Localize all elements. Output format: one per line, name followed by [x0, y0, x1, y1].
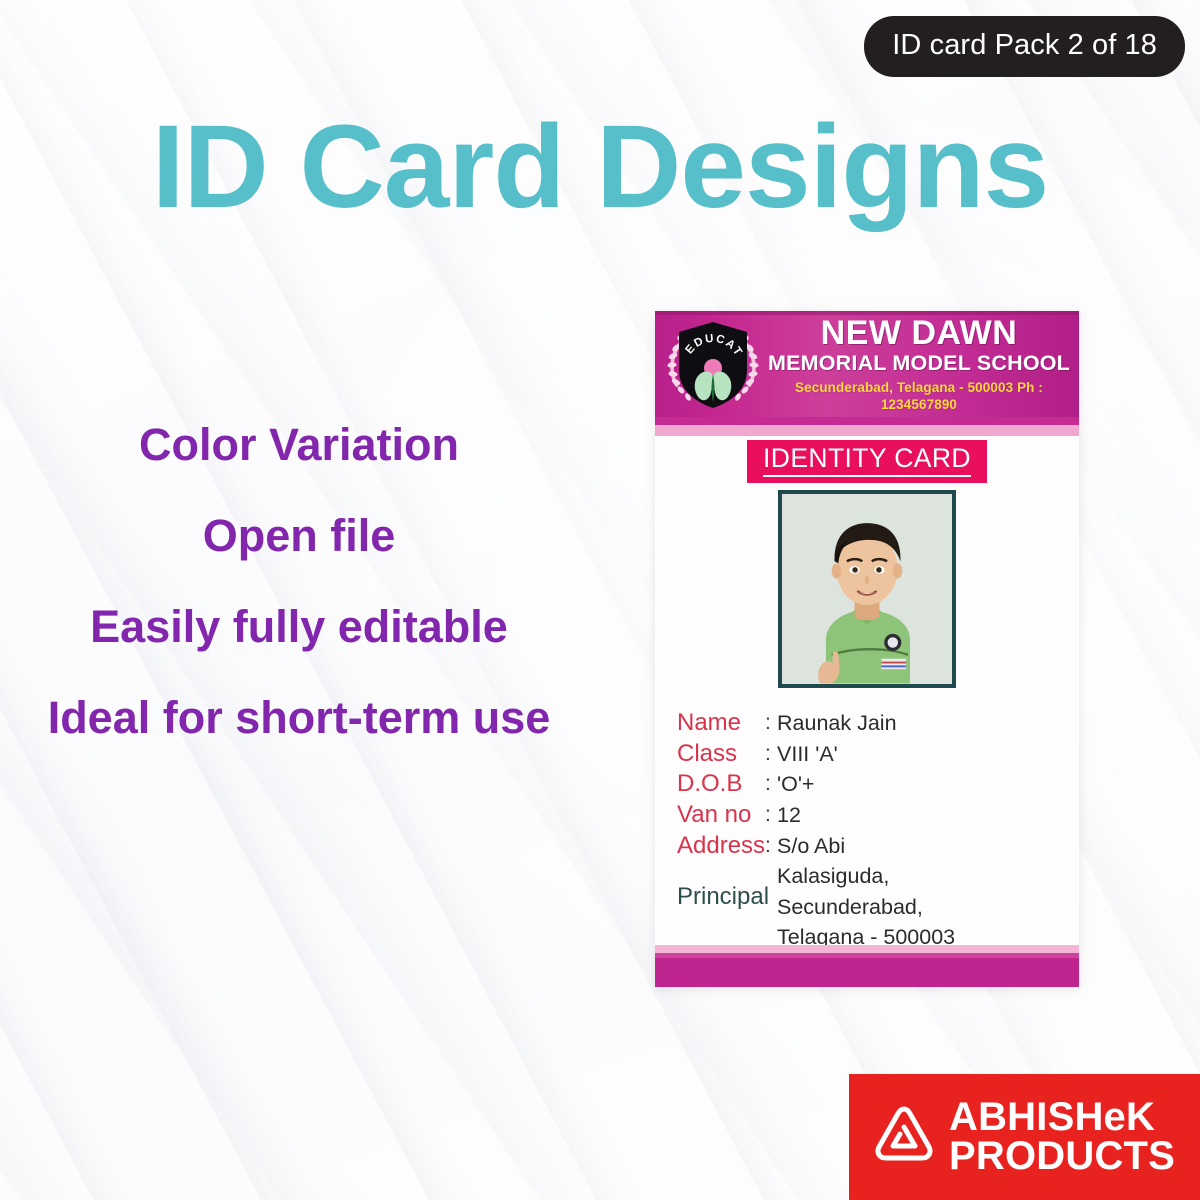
brand-name: ABHISHeK [949, 1098, 1175, 1137]
education-shield-emblem-icon: EDUCATION [661, 314, 765, 414]
photo-row [655, 490, 1079, 688]
student-photo [778, 490, 956, 688]
identity-banner-row: IDENTITY CARD [655, 436, 1079, 484]
list-item: Open file [14, 513, 584, 558]
field-label: Address [677, 831, 765, 862]
school-name: NEW DAWN [765, 316, 1073, 351]
brand-category: PRODUCTS [949, 1137, 1175, 1176]
field-colon: : [765, 800, 777, 830]
field-colon: : [765, 831, 777, 861]
field-label: Name [677, 708, 765, 739]
id-card-details: Name : Raunak Jain Class : VIII 'A' D.O.… [655, 708, 1079, 953]
feature-list: Color Variation Open file Easily fully e… [14, 422, 584, 740]
field-label: Van no [677, 800, 765, 831]
footer-pink-strip [655, 945, 1079, 953]
field-value: 'O'+ [777, 769, 1065, 800]
field-label: Class [677, 739, 765, 770]
footer-magenta-band [655, 953, 1079, 987]
field-label: D.O.B [677, 769, 765, 800]
poster-canvas: ID card Pack 2 of 18 ID Card Designs Col… [0, 0, 1200, 1200]
school-identity: NEW DAWN MEMORIAL MODEL SCHOOL Secundera… [765, 314, 1079, 413]
list-item: Ideal for short-term use [14, 695, 584, 740]
id-card-preview: EDUCATION NEW DAWN MEMORIAL MODEL SCHOOL… [655, 311, 1079, 987]
list-item: Color Variation [14, 422, 584, 467]
field-value: 12 [777, 800, 1065, 831]
identity-card-label: IDENTITY CARD [763, 445, 971, 477]
identity-card-banner: IDENTITY CARD [747, 440, 987, 483]
school-address: Secunderabad, Telagana - 500003 Ph : 123… [765, 379, 1073, 414]
id-card-header: EDUCATION NEW DAWN MEMORIAL MODEL SCHOOL… [655, 311, 1079, 417]
abhishek-triangle-a-logo-icon [871, 1101, 937, 1173]
list-item: Easily fully editable [14, 604, 584, 649]
school-subtitle: MEMORIAL MODEL SCHOOL [765, 351, 1073, 376]
field-colon: : [765, 769, 777, 799]
header-pink-strip [655, 425, 1079, 436]
field-colon: : [765, 739, 777, 769]
brand-logo: ABHISHeK PRODUCTS [849, 1074, 1200, 1200]
header-accent-band [655, 417, 1079, 425]
id-card-footer [655, 945, 1079, 987]
field-value: VIII 'A' [777, 739, 1065, 770]
field-value: S/o Abi Kalasiguda, Secunderabad, Telaga… [777, 831, 1065, 953]
field-value: Raunak Jain [777, 708, 1065, 739]
page-title: ID Card Designs [0, 108, 1200, 226]
field-colon: : [765, 708, 777, 738]
pack-badge: ID card Pack 2 of 18 [864, 16, 1185, 77]
brand-wordmark: ABHISHeK PRODUCTS [949, 1098, 1175, 1176]
